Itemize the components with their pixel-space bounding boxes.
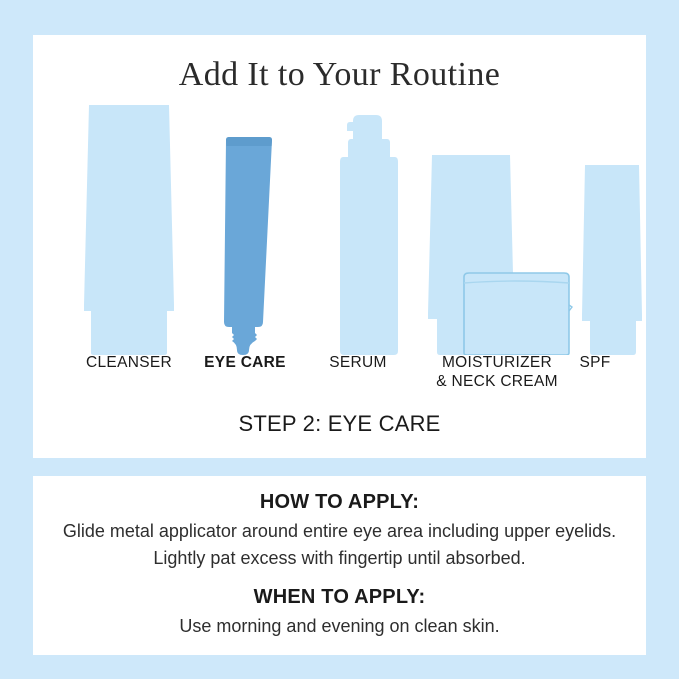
product-label-spf: SPF [545, 353, 645, 372]
instructions-panel: HOW TO APPLY: Glide metal applicator aro… [33, 476, 646, 655]
spf-tube-icon [569, 165, 649, 355]
product-label-moisturizer-line1: MOISTURIZER [442, 354, 552, 371]
product-moisturizer [418, 155, 578, 355]
cleanser-tube-icon [75, 105, 183, 355]
infographic-page: Add It to Your Routine [0, 0, 679, 679]
serum-pump-bottle-icon [324, 113, 410, 355]
product-label-eye-care: EYE CARE [185, 353, 305, 372]
product-label-row: CLEANSER EYE CARE SERUM MOISTURIZER & NE… [33, 353, 646, 413]
eye-care-tube-icon [205, 137, 285, 355]
how-to-apply-body: Glide metal applicator around entire eye… [33, 518, 646, 572]
page-title: Add It to Your Routine [33, 56, 646, 94]
product-label-moisturizer-line2: & NECK CREAM [436, 373, 558, 390]
product-label-cleanser: CLEANSER [59, 353, 199, 372]
product-illustration-row [33, 95, 646, 355]
when-to-apply-body: Use morning and evening on clean skin. [33, 613, 646, 640]
instructions-content: HOW TO APPLY: Glide metal applicator aro… [33, 476, 646, 640]
step-caption: STEP 2: EYE CARE [33, 411, 646, 437]
product-spf [569, 165, 649, 355]
moisturizer-tube-and-jar-icon [418, 155, 578, 355]
when-to-apply-heading: WHEN TO APPLY: [33, 586, 646, 609]
routine-panel: Add It to Your Routine [33, 35, 646, 458]
product-label-serum: SERUM [298, 353, 418, 372]
product-cleanser [75, 105, 183, 355]
how-to-apply-heading: HOW TO APPLY: [33, 491, 646, 514]
product-serum [324, 113, 410, 355]
product-eye-care [205, 137, 285, 355]
